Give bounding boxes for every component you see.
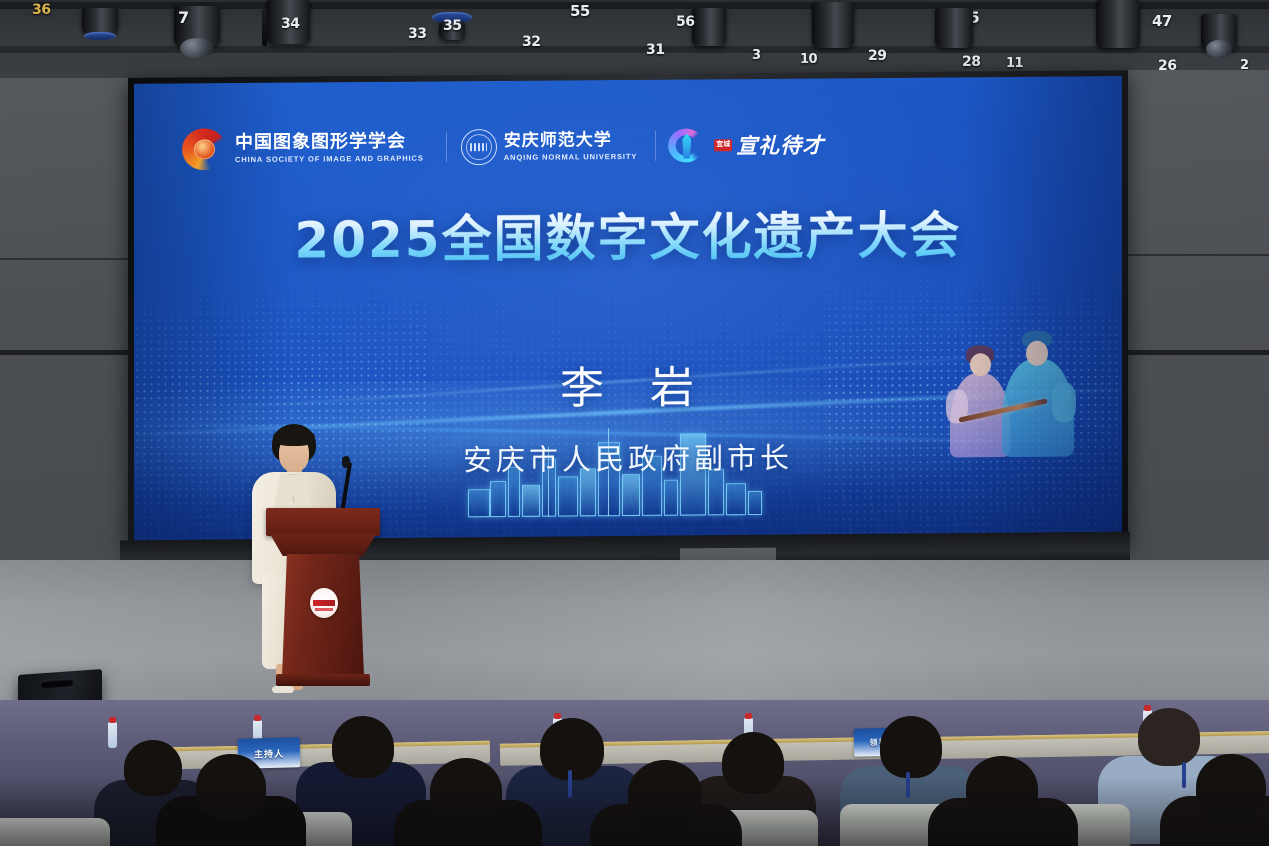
- stage-light: [78, 2, 122, 38]
- audience-head: [332, 716, 394, 778]
- logo-anqing-normal-university: 安庆师范大学 ANQING NORMAL UNIVERSITY: [461, 128, 638, 165]
- stage-light: [930, 4, 978, 56]
- stage-light-number: 36: [32, 2, 50, 18]
- stage-light-number: 31: [646, 42, 664, 58]
- stage-light-number: 55: [570, 2, 590, 20]
- speaker-name-given: 岩: [650, 362, 696, 413]
- stage-light-number: 28: [962, 54, 980, 70]
- logo-csig: 中国图象图形学学会 CHINA SOCIETY OF IMAGE AND GRA…: [182, 127, 424, 171]
- stage-light: [1196, 10, 1242, 60]
- audience-head: [1138, 708, 1200, 766]
- logo-xlt-cn: 宣礼待才: [736, 129, 824, 160]
- logo-xuanli-daicai: 宜城 宣礼待才: [668, 125, 824, 164]
- stage-light-number: 29: [868, 48, 886, 64]
- microphone-head-icon: [342, 456, 350, 468]
- stage-light-number: 10: [800, 52, 817, 67]
- stage-light-number: 47: [1152, 12, 1172, 30]
- logo-anu-cn: 安庆师范大学: [504, 132, 638, 150]
- stage-light: [168, 4, 226, 62]
- audience-foreground-shadow: [0, 776, 1269, 846]
- speaker-name: 李岩: [134, 348, 1122, 420]
- wooden-lectern: [268, 508, 378, 686]
- audience-head: [540, 718, 604, 780]
- logo-divider: [655, 131, 656, 161]
- logo-csig-en: CHINA SOCIETY OF IMAGE AND GRAPHICS: [235, 155, 424, 164]
- water-bottle: [108, 722, 117, 748]
- lectern-emblem: [310, 588, 338, 618]
- stage-light-number: 56: [676, 14, 694, 30]
- pagoda-tower-ring-icon: [668, 126, 708, 164]
- speaker-name-surname: 李: [560, 363, 606, 414]
- stage-light-number: 7: [178, 8, 189, 27]
- university-seal-icon: [461, 129, 497, 165]
- audience-head: [880, 716, 942, 778]
- stage-light: [806, 0, 860, 60]
- logo-anu-en: ANQING NORMAL UNIVERSITY: [504, 153, 638, 162]
- stage-light: [1090, 0, 1146, 60]
- stage-light-number: 11: [1006, 56, 1023, 71]
- csig-c-swoosh-globe-logo-icon: [182, 128, 228, 170]
- scene-root: 36 7 35 34 33 32 55 56 31 3 10 29 45 28 …: [0, 0, 1269, 846]
- audience-area: 主持人 领导席: [0, 700, 1269, 846]
- stage-light-number: 3: [752, 48, 761, 63]
- logo-csig-cn: 中国图象图形学学会: [235, 133, 424, 152]
- stage-light-number: 32: [522, 34, 540, 50]
- back-wall-left: [0, 78, 132, 638]
- sponsor-logo-row: 中国图象图形学学会 CHINA SOCIETY OF IMAGE AND GRA…: [182, 118, 1082, 173]
- stage-light-number: 33: [408, 26, 426, 42]
- stage-light-number: 34: [281, 16, 299, 32]
- logo-xlt-badge: 宜城: [714, 140, 732, 151]
- stage-light-number: 35: [443, 18, 461, 34]
- placard-label: 主持人: [254, 746, 284, 760]
- conference-title: 2025全国数字文化遗产大会: [134, 194, 1122, 274]
- logo-divider: [446, 132, 447, 162]
